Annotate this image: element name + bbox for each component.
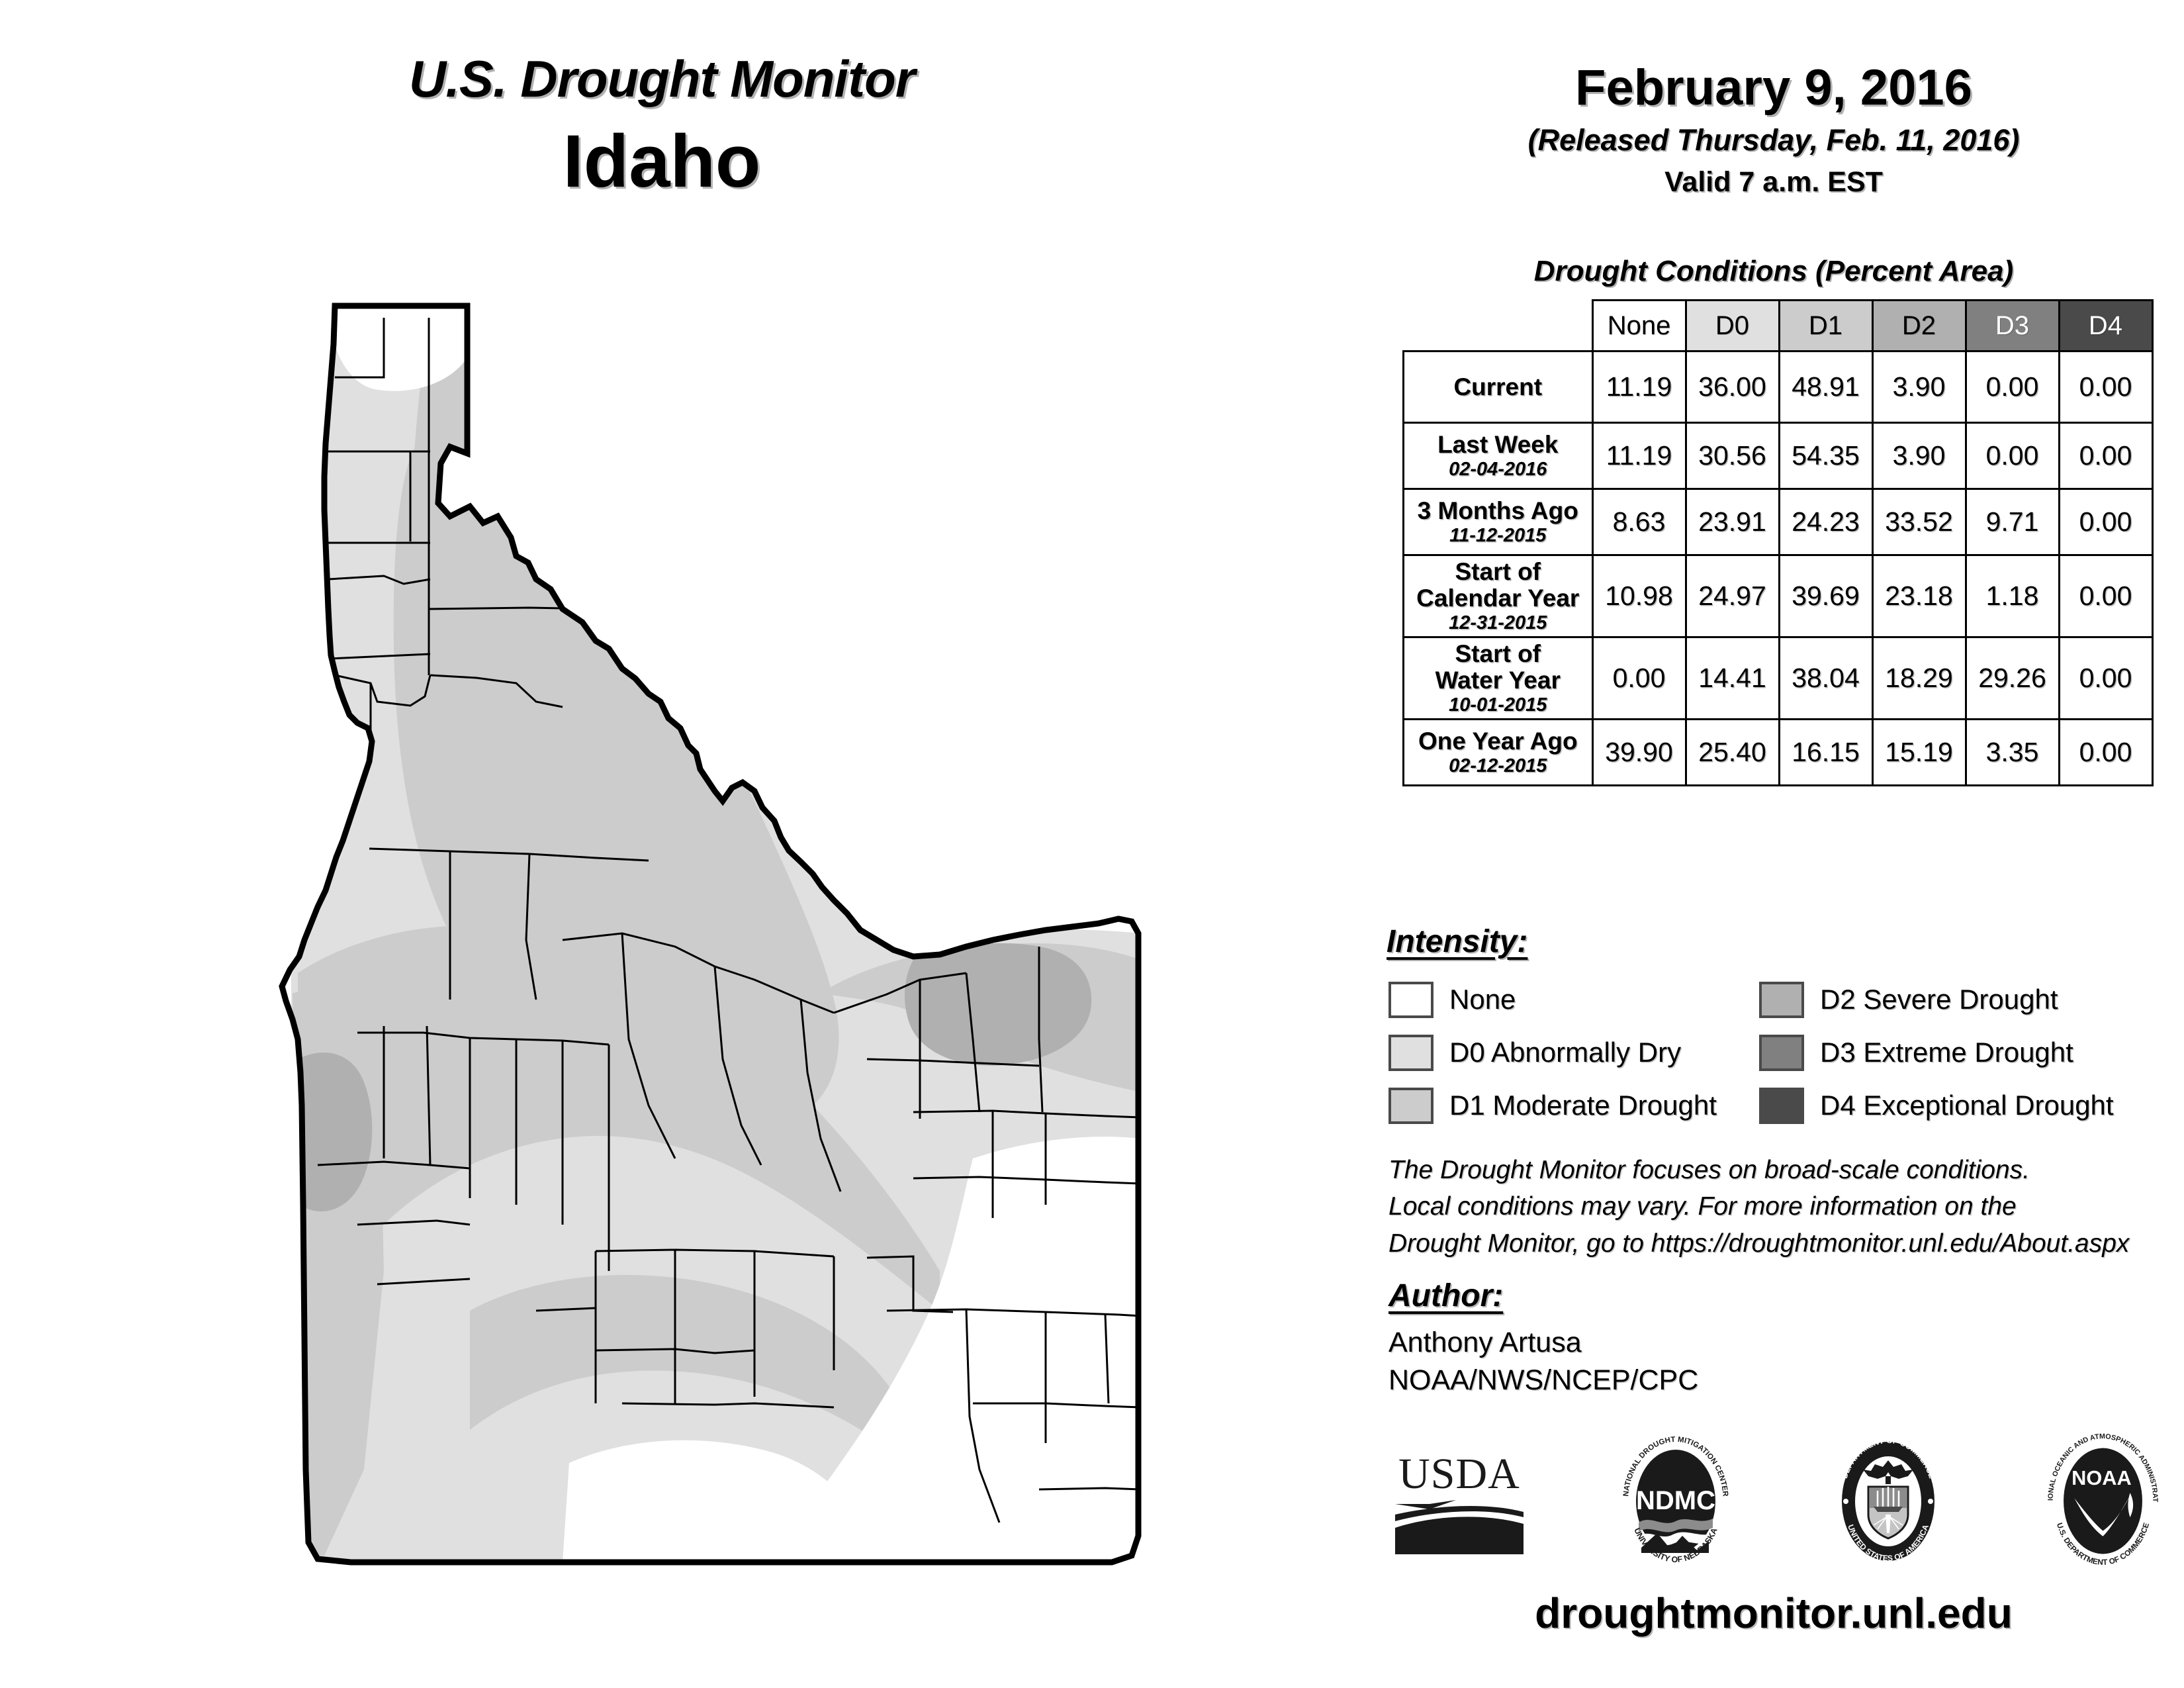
- row-label-3-months-ago: 3 Months Ago 11-12-2015: [1404, 489, 1593, 555]
- swatch-d4-icon: [1759, 1088, 1804, 1124]
- date-block: February 9, 2016 (Released Thursday, Feb…: [1377, 63, 2171, 197]
- legend-item-none: None: [1388, 973, 1759, 1026]
- cell-last-week-d3: 0.00: [1966, 423, 2059, 489]
- drought-conditions-table: None D0 D1 D2 D3 D4 Current 11.19 36.00 …: [1402, 299, 2154, 786]
- row-label-date: 02-12-2015: [1410, 756, 1586, 776]
- row-label-text-line1: Start of: [1410, 641, 1586, 667]
- intensity-heading: Intensity:: [1387, 923, 1527, 960]
- cell-1yr-d0: 25.40: [1686, 720, 1779, 786]
- swatch-none-icon: [1388, 982, 1433, 1018]
- author-affiliation: NOAA/NWS/NCEP/CPC: [1388, 1362, 1698, 1399]
- cell-current-none: 11.19: [1592, 352, 1686, 423]
- legend-label-d3: D3 Extreme Drought: [1820, 1037, 2073, 1068]
- row-label-text: One Year Ago: [1410, 728, 1586, 755]
- cell-last-week-d1: 54.35: [1779, 423, 1872, 489]
- idaho-drought-map: [251, 278, 1178, 1595]
- swatch-d3-icon: [1759, 1035, 1804, 1071]
- legend-item-d4: D4 Exceptional Drought: [1759, 1079, 2169, 1132]
- col-header-d3: D3: [1966, 301, 2059, 352]
- cell-cy-d1: 39.69: [1779, 555, 1872, 637]
- svg-text:NDMC: NDMC: [1636, 1486, 1715, 1515]
- title-block: U.S. Drought Monitor Idaho: [0, 53, 1324, 205]
- swatch-d1-icon: [1388, 1088, 1433, 1124]
- cell-cy-none: 10.98: [1592, 555, 1686, 637]
- row-label-text: Current: [1410, 374, 1586, 400]
- row-label-date: 12-31-2015: [1410, 613, 1586, 633]
- cell-last-week-d0: 30.56: [1686, 423, 1779, 489]
- cell-cy-d4: 0.00: [2059, 555, 2152, 637]
- cell-1yr-d3: 3.35: [1966, 720, 2059, 786]
- cell-1yr-d2: 15.19: [1872, 720, 1966, 786]
- cell-current-d3: 0.00: [1966, 352, 2059, 423]
- table-row-current: Current 11.19 36.00 48.91 3.90 0.00 0.00: [1404, 352, 2153, 423]
- state-title: Idaho: [0, 119, 1324, 205]
- row-label-current: Current: [1404, 352, 1593, 423]
- author-heading: Author:: [1388, 1278, 1503, 1314]
- table-header-row: None D0 D1 D2 D3 D4: [1404, 301, 2153, 352]
- cell-current-d1: 48.91: [1779, 352, 1872, 423]
- noaa-logo: NOAA NATIONAL OCEANIC AND ATMOSPHERIC AD…: [2035, 1433, 2171, 1572]
- cell-current-d0: 36.00: [1686, 352, 1779, 423]
- cell-cy-d0: 24.97: [1686, 555, 1779, 637]
- cell-3mo-d2: 33.52: [1872, 489, 1966, 555]
- agency-logos: USDA NDMC NATIONAL DROUGHT MITIGATION CE…: [1390, 1433, 2171, 1572]
- table-row-3-months-ago: 3 Months Ago 11-12-2015 8.63 23.91 24.23…: [1404, 489, 2153, 555]
- valid-time: Valid 7 a.m. EST: [1377, 168, 2171, 197]
- row-label-date: 10-01-2015: [1410, 695, 1586, 716]
- table-corner-cell: [1404, 301, 1593, 352]
- row-label-start-calendar-year: Start of Calendar Year 12-31-2015: [1404, 555, 1593, 637]
- legend-label-d0: D0 Abnormally Dry: [1449, 1037, 1681, 1068]
- cell-wy-d4: 0.00: [2059, 637, 2152, 720]
- legend-label-d2: D2 Severe Drought: [1820, 984, 2058, 1015]
- cell-current-d2: 3.90: [1872, 352, 1966, 423]
- row-label-one-year-ago: One Year Ago 02-12-2015: [1404, 720, 1593, 786]
- legend-item-d2: D2 Severe Drought: [1759, 973, 2169, 1026]
- row-label-text-line2: Water Year: [1410, 667, 1586, 694]
- drought-shading-layer: [251, 278, 1178, 1595]
- swatch-d2-icon: [1759, 982, 1804, 1018]
- doc-logo: DEPARTMENT OF COMMERCE UNITED STATES OF …: [1822, 1435, 1954, 1571]
- cell-current-d4: 0.00: [2059, 352, 2152, 423]
- svg-text:NOAA: NOAA: [2071, 1466, 2132, 1489]
- legend-item-d3: D3 Extreme Drought: [1759, 1026, 2169, 1079]
- author-name: Anthony Artusa: [1388, 1324, 1698, 1362]
- cell-wy-none: 0.00: [1592, 637, 1686, 720]
- col-header-none: None: [1592, 301, 1686, 352]
- table-row-start-water-year: Start of Water Year 10-01-2015 0.00 14.4…: [1404, 637, 2153, 720]
- release-date: (Released Thursday, Feb. 11, 2016): [1377, 125, 2171, 155]
- cell-cy-d3: 1.18: [1966, 555, 2059, 637]
- row-label-date: 11-12-2015: [1410, 526, 1586, 546]
- cell-cy-d2: 23.18: [1872, 555, 1966, 637]
- table-row-last-week: Last Week 02-04-2016 11.19 30.56 54.35 3…: [1404, 423, 2153, 489]
- legend-label-none: None: [1449, 984, 1516, 1015]
- legend-label-d1: D1 Moderate Drought: [1449, 1090, 1717, 1121]
- row-label-date: 02-04-2016: [1410, 459, 1586, 480]
- legend-label-d4: D4 Exceptional Drought: [1820, 1090, 2114, 1121]
- legend-item-d0: D0 Abnormally Dry: [1388, 1026, 1759, 1079]
- col-header-d2: D2: [1872, 301, 1966, 352]
- swatch-d0-icon: [1388, 1035, 1433, 1071]
- legend-item-d1: D1 Moderate Drought: [1388, 1079, 1759, 1132]
- cell-wy-d1: 38.04: [1779, 637, 1872, 720]
- row-label-text-line1: Start of: [1410, 559, 1586, 585]
- cell-wy-d0: 14.41: [1686, 637, 1779, 720]
- cell-3mo-d1: 24.23: [1779, 489, 1872, 555]
- row-label-text-line2: Calendar Year: [1410, 585, 1586, 612]
- col-header-d0: D0: [1686, 301, 1779, 352]
- cell-last-week-none: 11.19: [1592, 423, 1686, 489]
- table-row-one-year-ago: One Year Ago 02-12-2015 39.90 25.40 16.1…: [1404, 720, 2153, 786]
- cell-1yr-none: 39.90: [1592, 720, 1686, 786]
- table-caption: Drought Conditions (Percent Area): [1377, 255, 2171, 288]
- disclaimer-line-2: Local conditions may vary. For more info…: [1388, 1188, 2176, 1225]
- svg-text:USDA: USDA: [1398, 1450, 1520, 1498]
- intensity-legend: None D2 Severe Drought D0 Abnormally Dry…: [1388, 973, 2169, 1132]
- row-label-start-water-year: Start of Water Year 10-01-2015: [1404, 637, 1593, 720]
- disclaimer-line-3: Drought Monitor, go to https://droughtmo…: [1388, 1225, 2176, 1262]
- cell-wy-d3: 29.26: [1966, 637, 2059, 720]
- map-svg: [251, 278, 1178, 1595]
- valid-date: February 9, 2016: [1377, 63, 2171, 113]
- cell-3mo-d4: 0.00: [2059, 489, 2152, 555]
- row-label-text: Last Week: [1410, 432, 1586, 458]
- cell-3mo-none: 8.63: [1592, 489, 1686, 555]
- author-info: Anthony Artusa NOAA/NWS/NCEP/CPC: [1388, 1324, 1698, 1399]
- cell-1yr-d1: 16.15: [1779, 720, 1872, 786]
- disclaimer-line-1: The Drought Monitor focuses on broad-sca…: [1388, 1152, 2176, 1188]
- usda-logo: USDA: [1390, 1443, 1529, 1562]
- row-label-text: 3 Months Ago: [1410, 498, 1586, 524]
- row-label-last-week: Last Week 02-04-2016: [1404, 423, 1593, 489]
- table-row-start-calendar-year: Start of Calendar Year 12-31-2015 10.98 …: [1404, 555, 2153, 637]
- ndmc-logo: NDMC NATIONAL DROUGHT MITIGATION CENTER …: [1610, 1435, 1742, 1571]
- col-header-d1: D1: [1779, 301, 1872, 352]
- cell-1yr-d4: 0.00: [2059, 720, 2152, 786]
- cell-3mo-d3: 9.71: [1966, 489, 2059, 555]
- cell-3mo-d0: 23.91: [1686, 489, 1779, 555]
- cell-last-week-d2: 3.90: [1872, 423, 1966, 489]
- page-title: U.S. Drought Monitor: [0, 53, 1324, 105]
- cell-last-week-d4: 0.00: [2059, 423, 2152, 489]
- col-header-d4: D4: [2059, 301, 2152, 352]
- footer-url: droughtmonitor.unl.edu: [1377, 1589, 2171, 1638]
- cell-wy-d2: 18.29: [1872, 637, 1966, 720]
- disclaimer-text: The Drought Monitor focuses on broad-sca…: [1388, 1152, 2176, 1262]
